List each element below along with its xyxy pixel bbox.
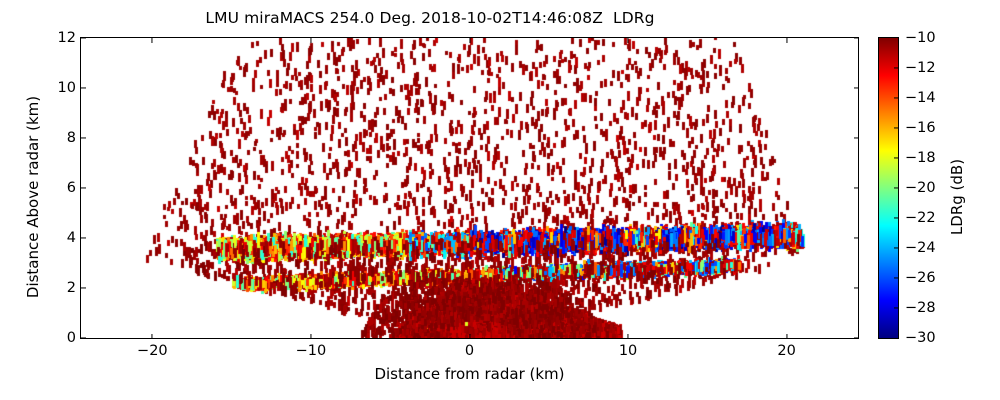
y-tick-mark [81, 87, 86, 88]
y-tick-mark [854, 87, 859, 88]
colorbar-tick-label: −20 [898, 180, 936, 196]
colorbar-tick-label: −24 [898, 240, 936, 256]
colorbar-tick-mark [894, 217, 899, 218]
y-tick-label: 4 [50, 230, 81, 246]
y-tick-mark [854, 37, 859, 38]
colorbar-tick-label: −12 [898, 60, 936, 76]
colorbar-tick-mark [894, 277, 899, 278]
colorbar-tick-label: −26 [898, 270, 936, 286]
x-tick-label: 0 [465, 338, 474, 359]
colorbar-tick-label: −22 [898, 210, 936, 226]
y-tick-mark [854, 237, 859, 238]
colorbar-tick-mark [894, 247, 899, 248]
x-tick-label: 20 [777, 338, 795, 359]
colorbar-tick-mark [894, 97, 899, 98]
colorbar-tick-label: −10 [898, 30, 936, 46]
scatter-data-canvas [81, 38, 858, 338]
y-tick-label: 8 [50, 130, 81, 146]
colorbar-tick-label: −14 [898, 90, 936, 106]
x-tick-mark [152, 38, 153, 43]
y-tick-mark [81, 37, 86, 38]
y-axis-label: Distance Above radar (km) [24, 67, 42, 327]
y-tick-label: 10 [50, 80, 81, 96]
colorbar-tick-mark [894, 157, 899, 158]
y-tick-label: 12 [50, 30, 81, 46]
x-tick-label: 10 [619, 338, 637, 359]
colorbar-tick-mark [894, 127, 899, 128]
radar-plot-figure: LMU miraMACS 254.0 Deg. 2018-10-02T14:46… [0, 0, 1000, 400]
colorbar-label: LDRg (dB) [948, 97, 966, 297]
x-tick-mark [786, 38, 787, 43]
y-tick-mark [854, 187, 859, 188]
x-tick-label: −20 [137, 338, 168, 359]
colorbar-tick-mark [894, 307, 899, 308]
colorbar-tick-label: −16 [898, 120, 936, 136]
y-tick-mark [81, 137, 86, 138]
colorbar: −10−12−14−16−18−20−22−24−26−28−30 [878, 37, 899, 339]
colorbar-tick-label: −28 [898, 300, 936, 316]
x-tick-mark [469, 38, 470, 43]
x-tick-mark [310, 334, 311, 339]
y-tick-mark [854, 287, 859, 288]
page-title: LMU miraMACS 254.0 Deg. 2018-10-02T14:46… [0, 9, 860, 27]
y-tick-mark [81, 187, 86, 188]
y-tick-mark [81, 287, 86, 288]
y-tick-mark [854, 137, 859, 138]
colorbar-tick-mark [894, 67, 899, 68]
y-tick-mark [81, 337, 86, 338]
x-tick-mark [469, 334, 470, 339]
x-tick-mark [628, 334, 629, 339]
x-tick-mark [786, 334, 787, 339]
colorbar-tick-mark [894, 187, 899, 188]
colorbar-tick-label: −30 [898, 330, 936, 346]
x-tick-mark [310, 38, 311, 43]
plot-axes: 024681012−20−1001020 [80, 37, 859, 339]
x-axis-label: Distance from radar (km) [80, 365, 859, 383]
y-tick-label: 2 [50, 280, 81, 296]
y-tick-label: 0 [50, 330, 81, 346]
x-tick-mark [152, 334, 153, 339]
x-tick-mark [628, 38, 629, 43]
y-tick-mark [854, 337, 859, 338]
x-tick-label: −10 [296, 338, 327, 359]
colorbar-tick-label: −18 [898, 150, 936, 166]
y-tick-label: 6 [50, 180, 81, 196]
y-tick-mark [81, 237, 86, 238]
